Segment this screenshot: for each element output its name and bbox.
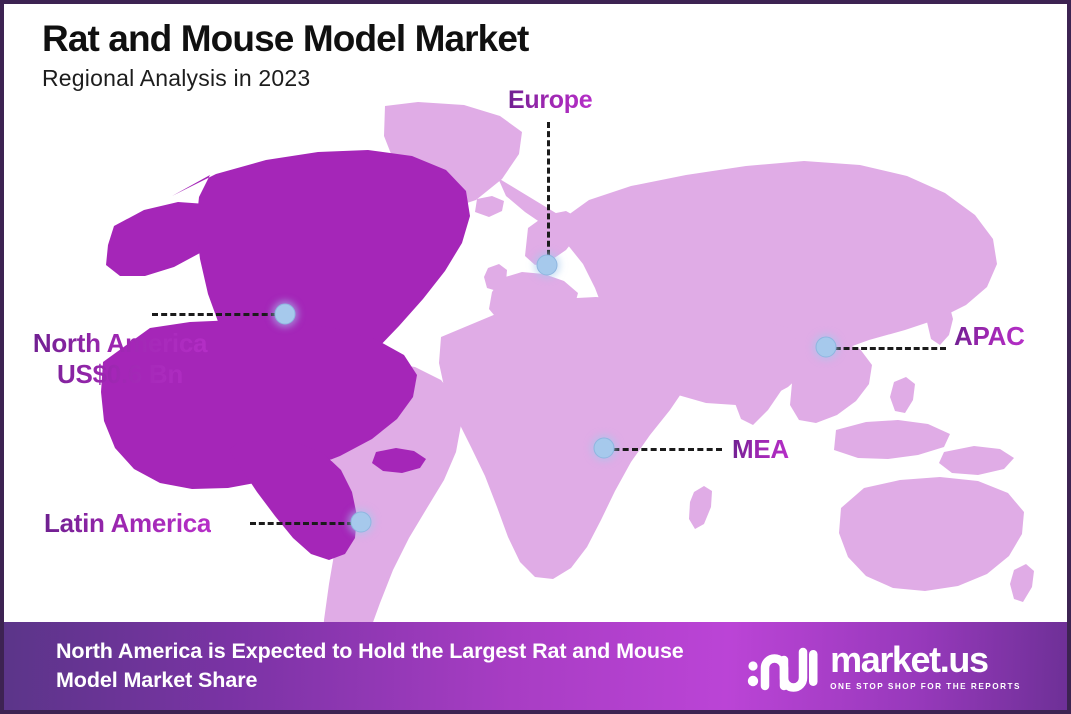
region-label-apac: APAC [954, 321, 1025, 352]
map-marker-apac[interactable] [816, 337, 837, 358]
footer-callout-text: North America is Expected to Hold the La… [56, 637, 746, 695]
market-us-logo-mark [746, 640, 820, 692]
footer-banner: North America is Expected to Hold the La… [4, 622, 1067, 710]
region-iceland [475, 196, 504, 217]
region-label-north-america-value: US$0.6 Bn [26, 359, 214, 390]
map-marker-latin-america[interactable] [351, 512, 372, 533]
market-us-logo-text: market.us ONE STOP SHOP FOR THE REPORTS [830, 642, 1021, 691]
page-subtitle: Regional Analysis in 2023 [42, 65, 528, 92]
region-indonesia [834, 420, 950, 459]
region-label-latin-america: Latin America [44, 508, 211, 539]
region-madagascar [689, 486, 712, 529]
leader-line-mea [604, 448, 722, 451]
region-new-zealand [1010, 564, 1034, 602]
region-label-mea: MEA [732, 434, 789, 465]
leader-line-latin-america [250, 522, 362, 525]
leader-line-europe [547, 122, 550, 265]
map-marker-mea[interactable] [594, 438, 615, 459]
market-us-logo[interactable]: market.us ONE STOP SHOP FOR THE REPORTS [746, 640, 1041, 692]
page-title: Rat and Mouse Model Market [42, 18, 528, 59]
region-india [731, 322, 799, 425]
region-japan [927, 298, 953, 345]
region-label-north-america: North America US$0.6 Bn [26, 328, 214, 389]
map-marker-europe[interactable] [537, 255, 558, 276]
market-us-logo-tagline: ONE STOP SHOP FOR THE REPORTS [830, 682, 1021, 691]
leader-line-apac [826, 347, 946, 350]
region-label-north-america-name: North America [26, 328, 214, 359]
header: Rat and Mouse Model Market Regional Anal… [42, 18, 528, 92]
market-us-logo-word: market.us [830, 642, 988, 678]
region-new-guinea [939, 446, 1014, 475]
region-australia [839, 477, 1024, 591]
leader-line-north-america [152, 313, 286, 316]
region-philippines [890, 377, 915, 413]
map-marker-north-america[interactable] [275, 304, 296, 325]
infographic-root: Rat and Mouse Model Market Regional Anal… [0, 0, 1071, 714]
